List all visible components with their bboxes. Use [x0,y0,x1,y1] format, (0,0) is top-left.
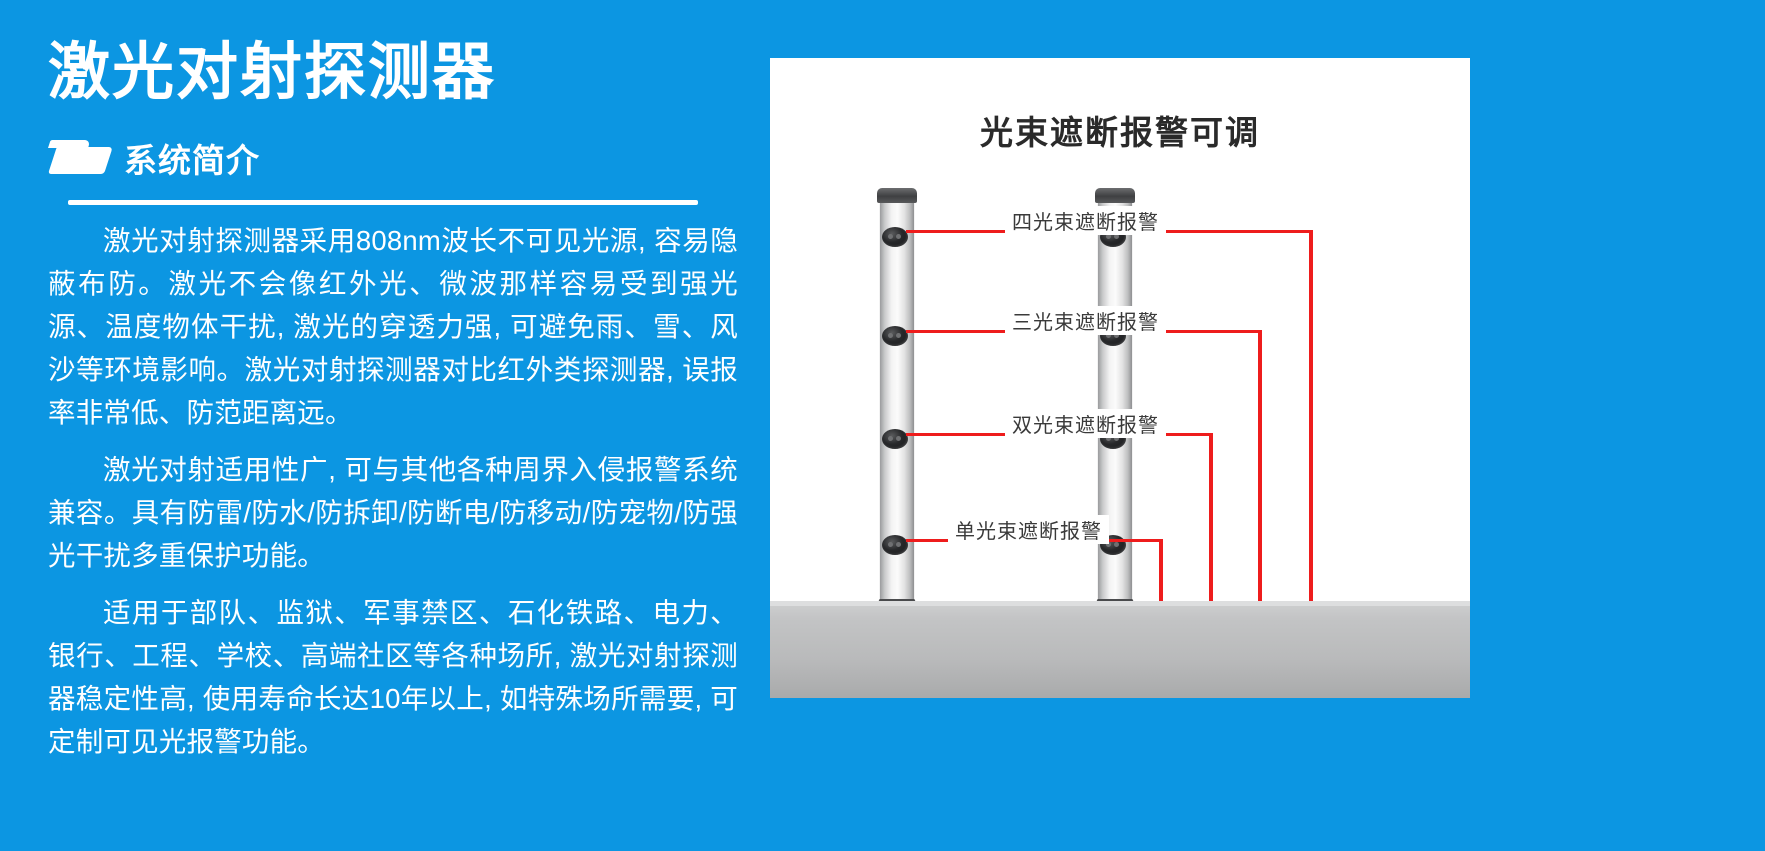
ground-slab [770,601,1470,698]
folder-icon [48,140,106,176]
figure-column: 光束遮断报警可调 四光束遮断报警 [770,0,1765,851]
section-heading: 系统简介 [48,134,770,182]
beam-drop-4 [1309,230,1313,601]
product-banner: 激光对射探测器 系统简介 激光对射探测器采用808nm波长不可见光源, 容易隐蔽… [0,0,1765,851]
intro-column: 激光对射探测器 系统简介 激光对射探测器采用808nm波长不可见光源, 容易隐蔽… [0,0,770,851]
beam-label-3: 三光束遮断报警 [1005,306,1166,335]
lens-icon [882,227,908,247]
section-heading-label: 系统简介 [124,134,260,182]
post-cap-icon [877,188,917,203]
intro-paragraph-2: 激光对射适用性广, 可与其他各种周界入侵报警系统兼容。具有防雷/防水/防拆卸/防… [48,448,738,577]
beam-label-4: 四光束遮断报警 [1005,206,1166,235]
figure-title: 光束遮断报警可调 [770,106,1470,154]
beam-label-1: 单光束遮断报警 [948,515,1109,544]
lens-icon [882,326,908,346]
intro-text: 激光对射探测器采用808nm波长不可见光源, 容易隐蔽布防。激光不会像红外光、微… [48,219,738,763]
lens-icon [882,535,908,555]
intro-paragraph-1: 激光对射探测器采用808nm波长不可见光源, 容易隐蔽布防。激光不会像红外光、微… [48,219,738,434]
lens-icon [882,429,908,449]
heading-divider [68,200,698,205]
intro-paragraph-3: 适用于部队、监狱、军事禁区、石化铁路、电力、银行、工程、学校、高端社区等各种场所… [48,591,738,763]
beam-label-2: 双光束遮断报警 [1005,409,1166,438]
beam-diagram-photo: 光束遮断报警可调 四光束遮断报警 [770,58,1470,698]
page-title: 激光对射探测器 [48,42,770,104]
beam-drop-3 [1258,330,1262,601]
beam-drop-2 [1209,433,1213,601]
beam-drop-1 [1159,539,1163,601]
post-cap-icon [1095,188,1135,203]
